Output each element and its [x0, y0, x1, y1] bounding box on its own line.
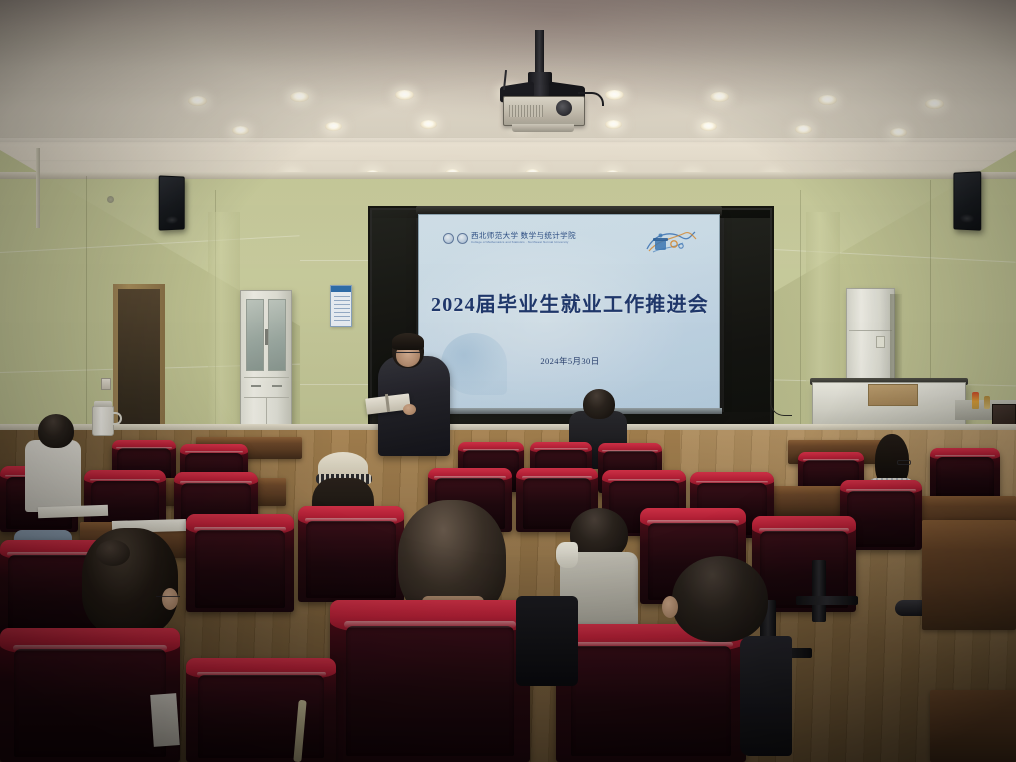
cabinet-glass-panel: [246, 299, 264, 371]
wall-outlet-left: [107, 196, 114, 203]
downlight: [290, 92, 309, 102]
screen-weight-bar: [416, 408, 722, 414]
slide-org-name-cn: 西北师范大学 数学与统计学院: [471, 232, 576, 240]
seat-back: [346, 626, 514, 756]
seat-highlight: [534, 448, 587, 450]
downlight: [420, 120, 437, 129]
attendee-left-head: [38, 414, 74, 448]
seat-leg: [812, 560, 826, 622]
wall-speaker-left: [159, 175, 185, 230]
seat-foreground[interactable]: [330, 600, 530, 762]
desk-right-foreground: [922, 520, 1016, 630]
seat-highlight: [463, 449, 520, 451]
cabinet-drawer-pull[interactable]: [272, 385, 282, 387]
slide-title: 2024届毕业生就业工作推进会: [419, 295, 720, 315]
seat-highlight: [90, 479, 161, 482]
seat-highlight: [608, 479, 680, 482]
presenter-glasses: [396, 352, 420, 356]
seat-highlight: [185, 451, 243, 453]
seat-highlight: [647, 520, 738, 524]
notice-board-text-lines: [334, 296, 350, 324]
attendee-right-glasses: [897, 460, 911, 465]
blackboard-panel-right: [724, 210, 770, 446]
cabinet-drawer-pull[interactable]: [251, 385, 261, 387]
downlight: [605, 90, 624, 100]
seat-highlight: [116, 447, 171, 449]
seat-highlight: [696, 481, 768, 484]
attendee-front-head: [583, 389, 615, 419]
seat-highlight: [7, 552, 96, 556]
downlight: [890, 128, 907, 137]
attendee-foreground-right-ear: [662, 596, 678, 618]
cabinet-divider: [244, 377, 289, 378]
logo-emblem-icon: [457, 233, 468, 244]
attendee-backpack: [740, 636, 792, 756]
seat-highlight: [305, 518, 396, 522]
wall-speaker-right: [953, 171, 981, 230]
wall-pilaster-left: [208, 212, 240, 452]
cabinet-handle[interactable]: [265, 329, 268, 345]
seat-foreground[interactable]: [186, 658, 336, 762]
wall-top-trim: [0, 172, 1016, 179]
slide-logo: 西北师范大学 数学与统计学院 College of Mathematics an…: [443, 229, 593, 247]
cabinet-seam: [849, 330, 892, 331]
downlight: [232, 126, 249, 135]
downlight: [795, 125, 812, 134]
bottle: [972, 392, 979, 409]
logo-seal-icon: [443, 233, 454, 244]
bottle: [984, 396, 990, 409]
storage-cabinet-left[interactable]: [240, 290, 292, 440]
projector-mount-pole: [535, 30, 544, 78]
downlight: [188, 96, 207, 106]
ribbon-graduation-graphic-icon: [641, 227, 697, 257]
seat-back: [936, 457, 995, 500]
cabinet-shadow: [890, 294, 902, 386]
seat-highlight: [846, 489, 917, 492]
downlight: [605, 120, 622, 129]
desk-surface: [910, 496, 1016, 506]
wall-notice-board: [330, 285, 352, 327]
presenter-hand: [403, 404, 416, 415]
seat-highlight: [759, 528, 848, 532]
desk-surface: [196, 437, 302, 443]
projection-screen[interactable]: 西北师范大学 数学与统计学院 College of Mathematics an…: [418, 214, 720, 410]
projector-vent: [509, 105, 543, 117]
attendee-bun-glasses: [156, 596, 180, 602]
podium-front-panel: [868, 384, 918, 406]
attendee-bun-knot: [96, 540, 130, 566]
seat-back: [195, 530, 286, 608]
seat-highlight: [935, 455, 995, 457]
slide-org-name-en: College of Mathematics and Statistics · …: [471, 241, 576, 244]
seat-back: [847, 491, 916, 547]
projector-lens: [556, 100, 572, 116]
downlight: [325, 122, 342, 131]
wall-rail-left: [36, 148, 40, 228]
attendee-bun-hair: [82, 528, 178, 636]
seat-highlight: [522, 476, 593, 479]
attendee-foreground-torso: [516, 596, 578, 686]
seat-back: [306, 521, 395, 598]
seat[interactable]: [186, 514, 294, 612]
downlight: [710, 92, 729, 102]
downlight: [700, 122, 717, 131]
seat[interactable]: [298, 506, 404, 602]
desk-surface: [922, 520, 1016, 549]
ceiling-upper-slab: [0, 0, 1016, 150]
cabinet-label-plate: [876, 336, 885, 348]
seat-highlight: [602, 450, 657, 452]
seat[interactable]: [930, 448, 1000, 502]
light-switch[interactable]: [101, 378, 111, 390]
seat-back: [14, 649, 165, 756]
projector-base-plate: [512, 124, 574, 132]
seat-highlight: [180, 481, 252, 484]
seat-highlight: [434, 476, 506, 479]
attendee-left-white-shirt: [25, 440, 81, 512]
seat-highlight: [13, 645, 168, 650]
downlight: [818, 95, 837, 105]
board-cable: [770, 382, 792, 416]
thermos-flask: [92, 406, 114, 436]
downlight: [925, 99, 944, 109]
seat-highlight: [194, 527, 287, 531]
seat-highlight: [197, 672, 326, 676]
attendee-foreground-right-head: [672, 556, 768, 642]
slide-date: 2024年5月30日: [419, 355, 720, 367]
seat-foreground[interactable]: [556, 624, 746, 762]
projector-body: [503, 96, 585, 126]
seat-back: [571, 646, 731, 756]
seat-highlight: [803, 459, 860, 461]
thermos-lid: [94, 401, 112, 407]
seat-highlight: [344, 621, 516, 627]
seat-leg: [796, 596, 858, 605]
attendee-face-mask: [556, 542, 578, 568]
paper-foreground: [150, 693, 180, 747]
desk-right-panel: [930, 690, 1016, 762]
cabinet-glass-panel: [268, 299, 286, 371]
seat-highlight: [569, 642, 732, 648]
wall-cabinet-right[interactable]: [846, 288, 895, 384]
presenter-hair: [392, 333, 424, 350]
lecture-hall-photo: 西北师范大学 数学与统计学院 College of Mathematics an…: [0, 0, 1016, 762]
downlight: [395, 90, 414, 100]
